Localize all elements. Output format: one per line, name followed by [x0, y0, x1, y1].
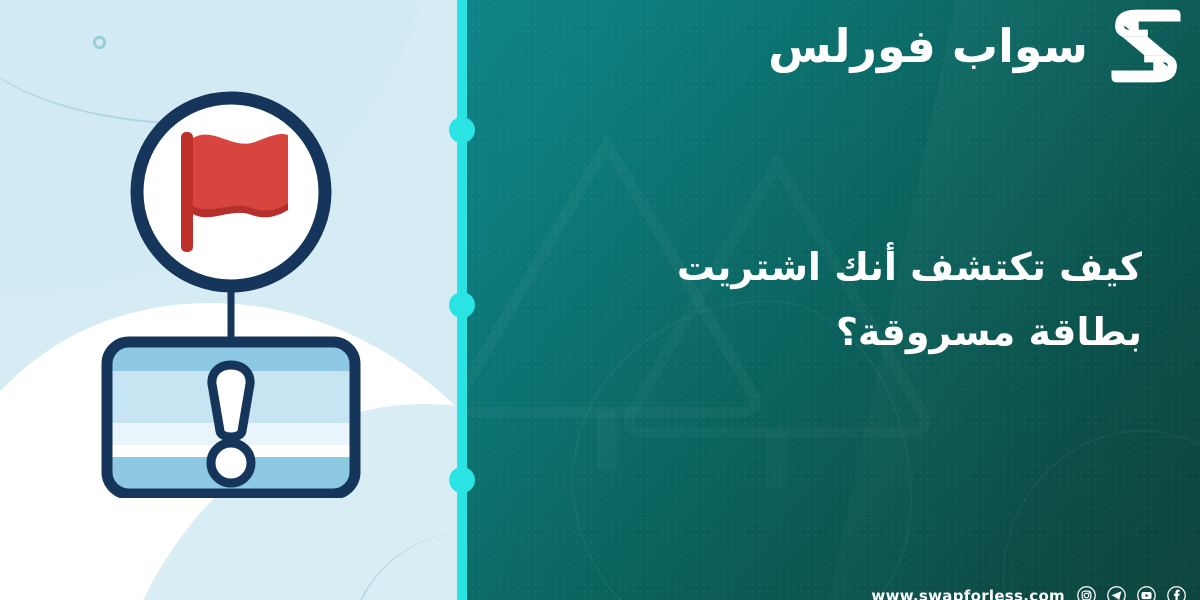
website-url[interactable]: www.swapforless.com: [871, 587, 1065, 600]
social-links: [1077, 586, 1186, 600]
facebook-icon[interactable]: [1167, 586, 1186, 600]
flag-and-card-illustration: [100, 88, 362, 498]
headline: كيف تكتشف أنك اشتريت بطاقة مسروقة؟: [522, 235, 1142, 366]
headline-line-2: بطاقة مسروقة؟: [522, 300, 1142, 365]
headline-line-1: كيف تكتشف أنك اشتريت: [522, 235, 1142, 300]
promo-banner: سواب فورلس كيف تكتشف أنك اشتريت بطاقة مس…: [0, 0, 1200, 600]
divider-node-3: [449, 467, 475, 493]
divider-node-2: [449, 292, 475, 318]
divider-node-1: [449, 117, 475, 143]
instagram-icon[interactable]: [1077, 586, 1096, 600]
exclamation-mark-icon: [211, 365, 251, 483]
red-flag-in-circle-icon: [137, 98, 325, 286]
left-illustration-panel: [0, 0, 462, 600]
telegram-icon[interactable]: [1107, 586, 1126, 600]
footer-bar: www.swapforless.com: [871, 586, 1186, 600]
youtube-icon[interactable]: [1137, 586, 1156, 600]
payment-card-warning-icon: [107, 342, 355, 494]
brand-logo[interactable]: سواب فورلس: [768, 6, 1190, 86]
brand-name: سواب فورلس: [768, 23, 1088, 69]
swap-arrows-s-icon: [1102, 6, 1190, 86]
decorative-dotted-circle: [93, 36, 106, 49]
